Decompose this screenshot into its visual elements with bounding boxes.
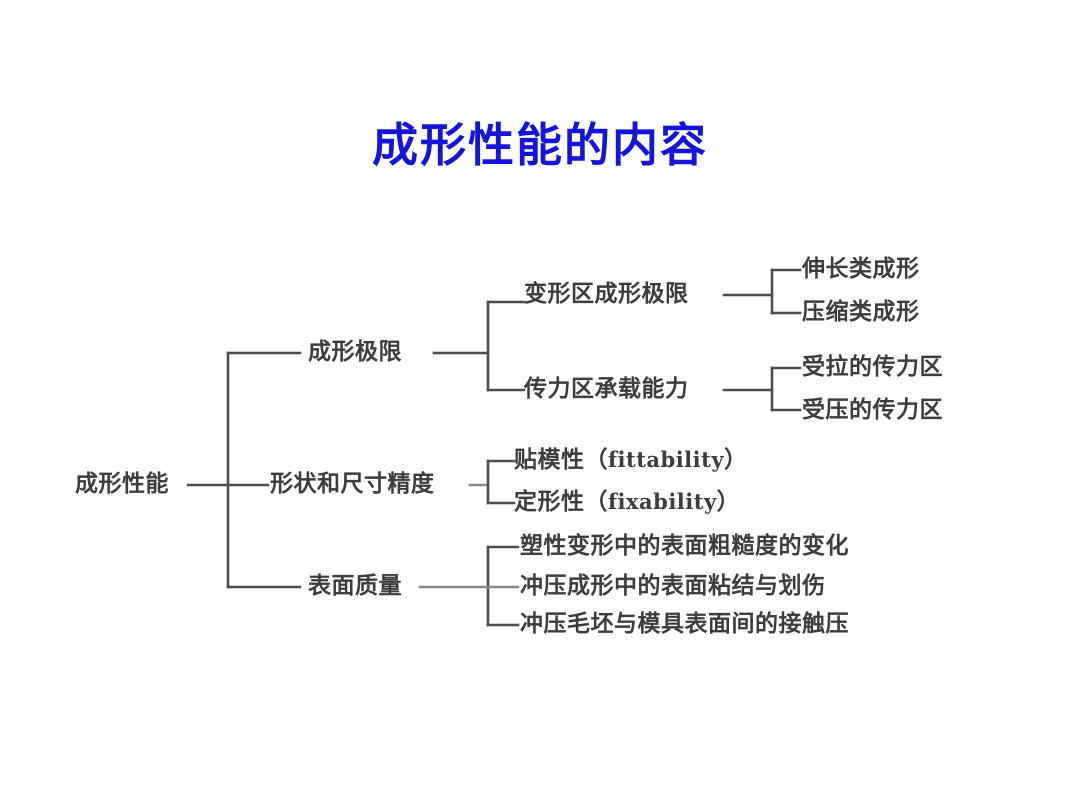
leaf-fittability-cn: 贴模性（	[514, 447, 608, 473]
node-leaf-compressive-force-zone[interactable]: 受压的传力区	[802, 399, 943, 422]
node-branch-shape-accuracy[interactable]: 形状和尺寸精度	[270, 473, 435, 496]
node-leaf-fittability[interactable]: 贴模性（fittability）	[514, 449, 748, 472]
leaf-fixability-cn-end: ）	[717, 489, 741, 515]
node-leaf-roughness-change[interactable]: 塑性变形中的表面粗糙度的变化	[520, 535, 849, 558]
node-root[interactable]: 成形性能	[75, 473, 169, 496]
node-leaf-contact-pressure[interactable]: 冲压毛坯与模具表面间的接触压	[520, 613, 849, 636]
node-force-transfer-capacity[interactable]: 传力区承载能力	[524, 378, 689, 401]
slide-canvas: 成形性能的内容 成形性	[0, 0, 1080, 810]
leaf-fittability-en: fittability	[608, 447, 724, 472]
node-leaf-adhesion-scratch[interactable]: 冲压成形中的表面粘结与划伤	[520, 575, 826, 598]
node-branch-surface-quality[interactable]: 表面质量	[308, 575, 402, 598]
leaf-fixability-cn: 定形性（	[514, 489, 608, 515]
node-leaf-elongation-forming[interactable]: 伸长类成形	[802, 258, 920, 281]
leaf-fittability-cn-end: ）	[724, 447, 748, 473]
leaf-fixability-en: fixability	[608, 489, 717, 514]
node-deformation-zone-limit[interactable]: 变形区成形极限	[524, 283, 689, 306]
node-leaf-fixability[interactable]: 定形性（fixability）	[514, 491, 740, 514]
node-leaf-tensile-force-zone[interactable]: 受拉的传力区	[802, 356, 943, 379]
node-leaf-compression-forming[interactable]: 压缩类成形	[802, 301, 920, 324]
node-branch-forming-limit[interactable]: 成形极限	[308, 341, 402, 364]
